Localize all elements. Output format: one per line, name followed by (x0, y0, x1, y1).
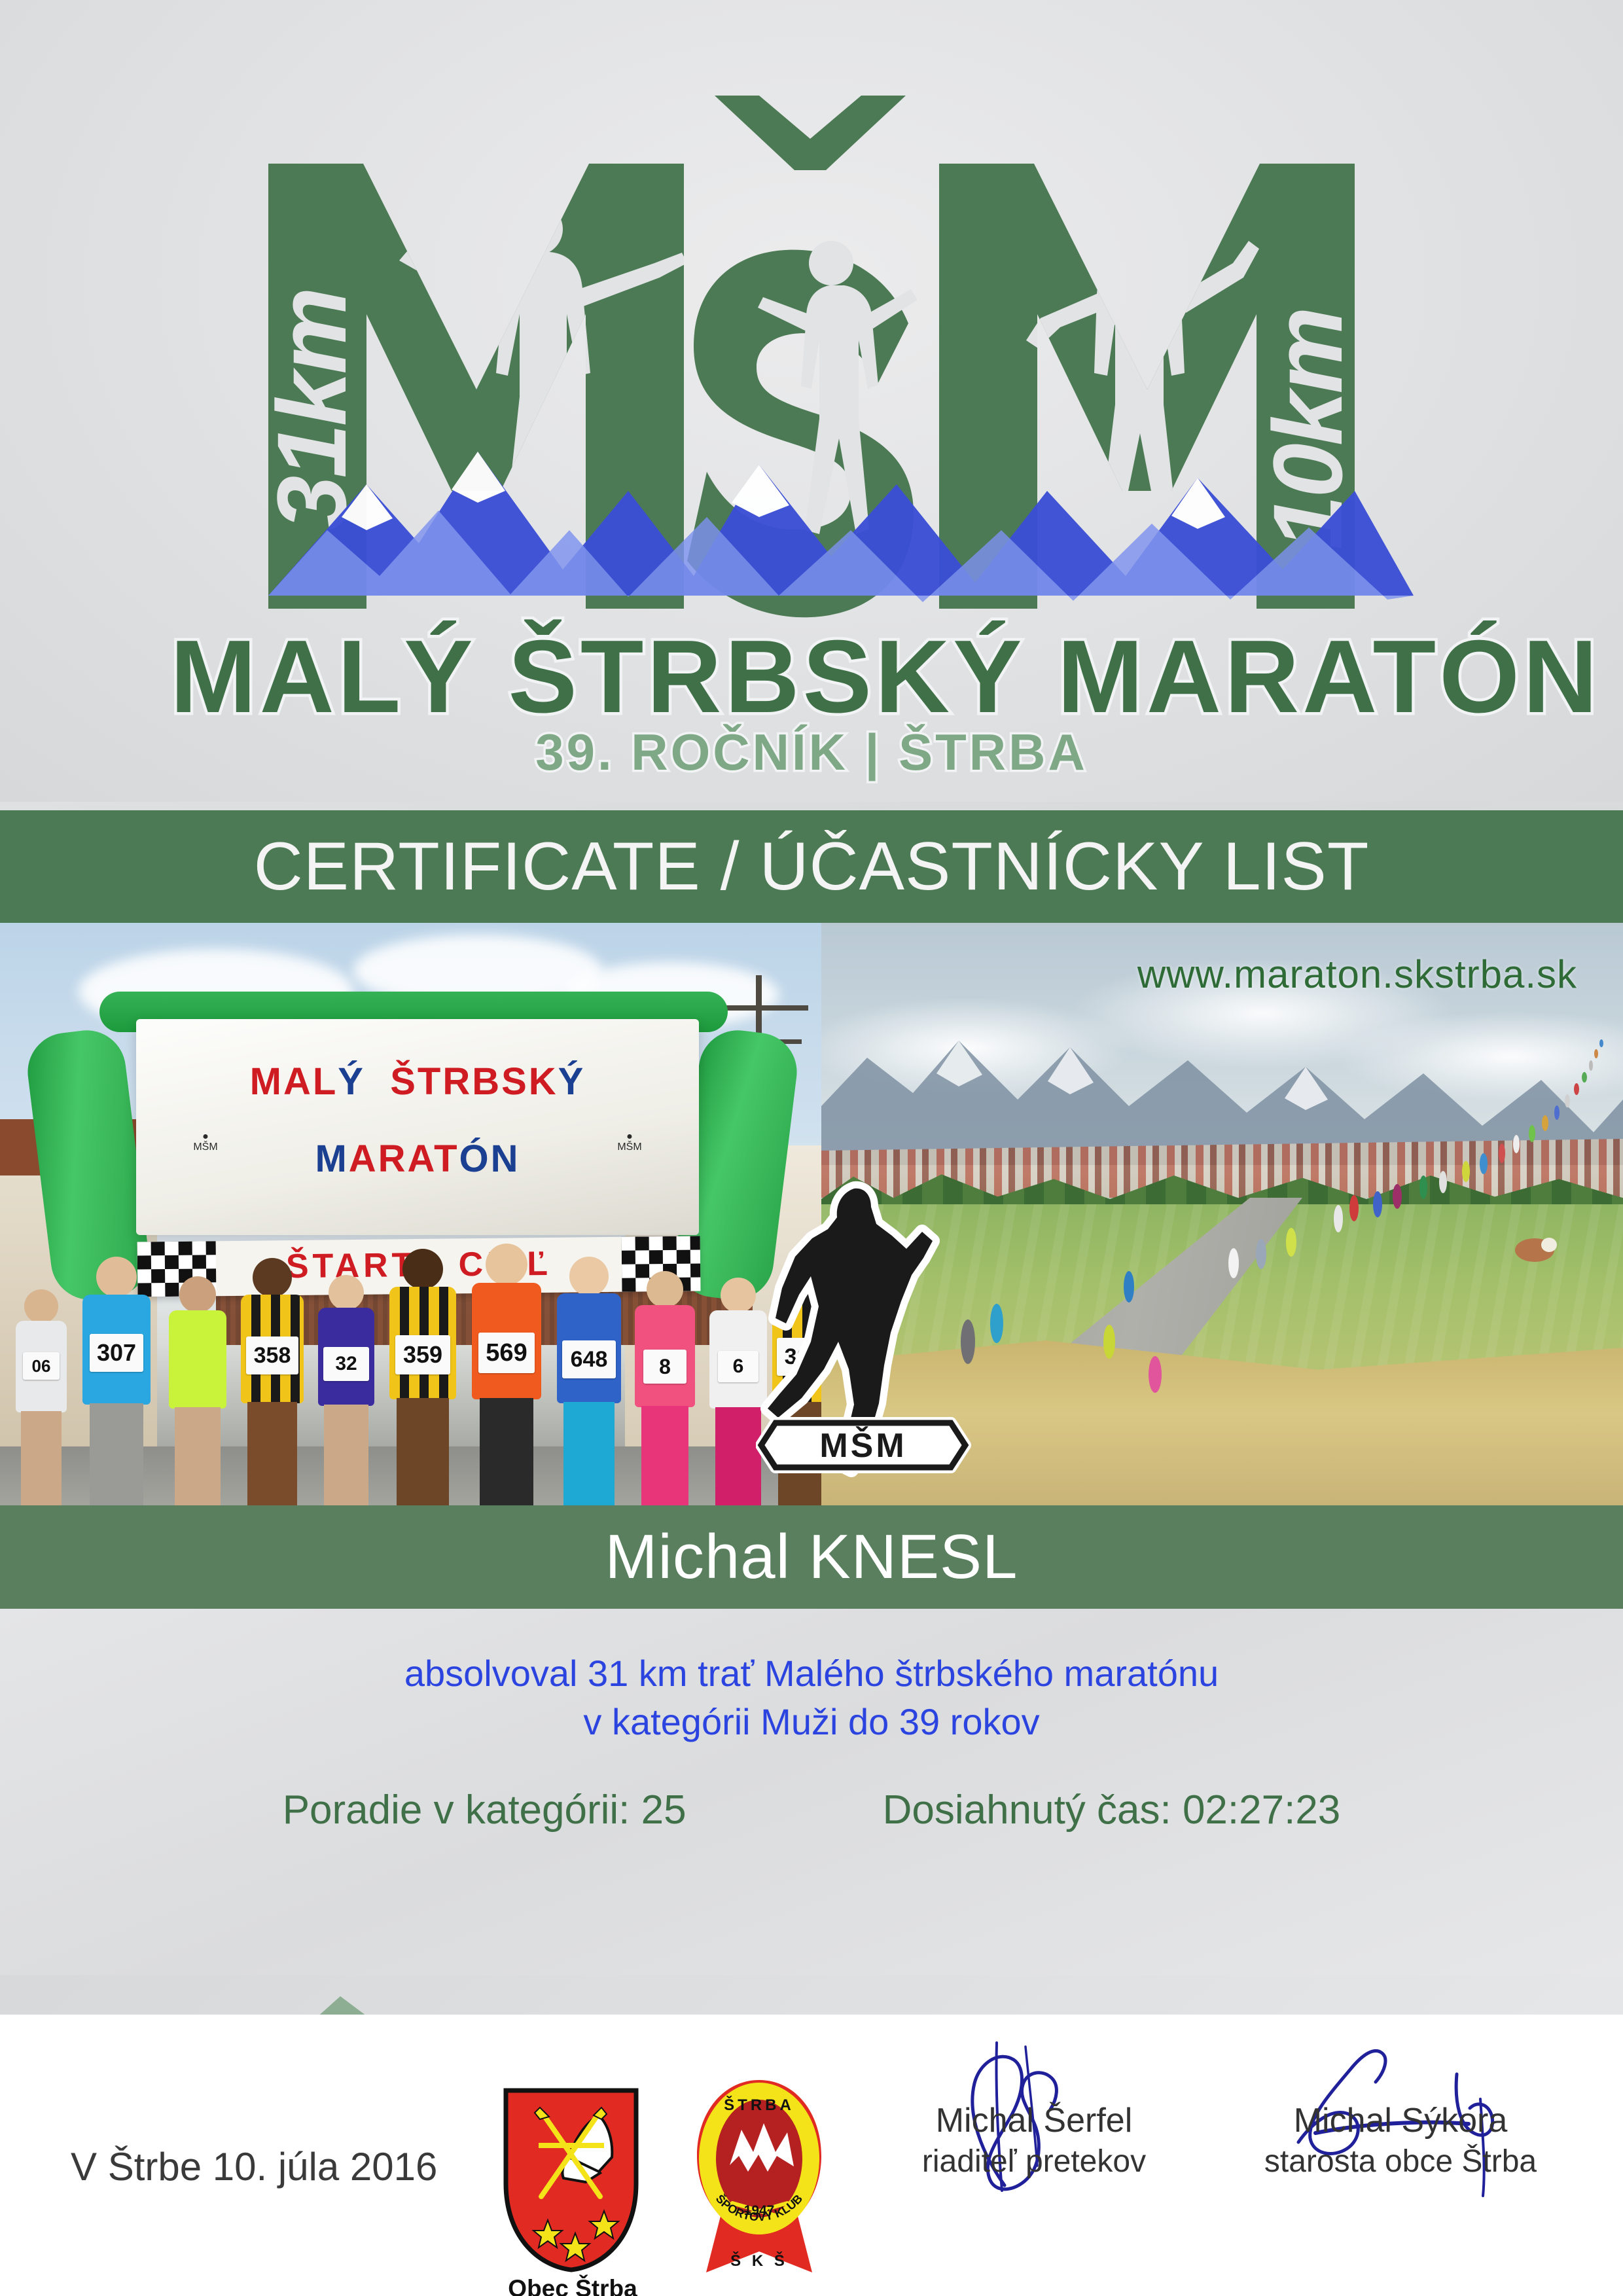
achievement-line-1: absolvoval 31 km trať Malého štrbského m… (0, 1649, 1623, 1698)
runner: 307 (77, 1257, 156, 1505)
website-url[interactable]: www.maraton.skstrba.sk (1137, 952, 1577, 997)
certificate-page: 31km (0, 0, 1623, 2296)
category-rank: Poradie v kategórii: 25 (283, 1787, 687, 1833)
participant-name-band: Michal KNESL (0, 1505, 1623, 1609)
event-subtitle: 39. ROČNÍK | ŠTRBA (170, 726, 1453, 778)
achievement-line-2: v kategórii Muži do 39 rokov (0, 1698, 1623, 1746)
arch-banner: MALÝ ŠTRBSKÝ MARATÓN ●MŠM ●MŠM (136, 1019, 699, 1235)
issue-date: V Štrbe 10. júla 2016 (71, 2144, 437, 2189)
signature-role: starosta obce Štrba (1217, 2142, 1584, 2181)
signature-block-director: Michal Šerfel riaditeľ pretekov (851, 2100, 1217, 2181)
badge-text: MŠM (819, 1426, 906, 1465)
msm-wordmark-svg: 31km (170, 33, 1453, 687)
arch-msm-mark-left: ●MŠM (191, 1132, 220, 1179)
signature-name: Michal Sýkora (1217, 2100, 1584, 2142)
runner: 359 (383, 1249, 462, 1505)
footer: V Štrbe 10. júla 2016 Obec (0, 2015, 1623, 2296)
runner: 32 (313, 1275, 380, 1505)
achievement-text: absolvoval 31 km trať Malého štrbského m… (0, 1649, 1623, 1746)
bib-number: 358 (246, 1336, 298, 1374)
photo-start-line: MALÝ ŠTRBSKÝ MARATÓN ●MŠM ●MŠM ŠTART - C… (0, 923, 821, 1505)
arch-banner-line1: MALÝ ŠTRBSKÝ (136, 1060, 699, 1103)
runner: 648 (551, 1257, 627, 1505)
msm-logo: 31km (170, 33, 1453, 785)
signature-name: Michal Šerfel (851, 2100, 1217, 2142)
header-logo-area: 31km (0, 0, 1623, 802)
bib-number: 6 (718, 1351, 758, 1382)
runner (164, 1276, 232, 1505)
runner: 358 (236, 1258, 309, 1505)
bib-number: 32 (323, 1347, 369, 1381)
runner: 06 (12, 1289, 71, 1505)
sks-bottom-text: Š K Š (730, 2251, 788, 2270)
arch-banner-line2: MARATÓN (136, 1137, 699, 1181)
signature-block-mayor: Michal Sýkora starosta obce Štrba (1217, 2100, 1584, 2181)
bib-number: 648 (562, 1340, 616, 1378)
bib-number: 8 (643, 1350, 687, 1384)
msm-runner-badge: MŠM (756, 1178, 972, 1486)
runner: 569 (466, 1244, 547, 1505)
result-row: Poradie v kategórii: 25 Dosiahnutý čas: … (0, 1787, 1623, 1833)
certificate-band: CERTIFICATE / ÚČASTNÍCKY LIST (0, 810, 1623, 923)
bib-number: 359 (395, 1335, 450, 1374)
event-title: MALÝ ŠTRBSKÝ MARATÓN (170, 625, 1453, 728)
sks-club-emblem: ŠTRBA 1947 Š K Š ŠPORTOVÝ KLUB (690, 2079, 828, 2275)
bib-number: 569 (478, 1333, 535, 1373)
finish-time: Dosiahnutý čas: 02:27:23 (883, 1787, 1341, 1833)
svg-text:31km: 31km (257, 289, 366, 530)
bib-number: 06 (23, 1352, 60, 1380)
runner-crowd: 06 307 358 (0, 1230, 821, 1505)
sks-top-text: ŠTRBA (724, 2096, 794, 2114)
arch-msm-mark-right: ●MŠM (615, 1132, 644, 1179)
bib-number: 307 (90, 1334, 143, 1372)
participant-name: Michal KNESL (605, 1521, 1018, 1593)
obec-strba-crest (501, 2085, 641, 2275)
certificate-heading: CERTIFICATE / ÚČASTNÍCKY LIST (254, 828, 1370, 906)
obec-strba-label: Obec Štrba (481, 2275, 664, 2296)
runner: 8 (630, 1271, 700, 1505)
signature-role: riaditeľ pretekov (851, 2142, 1217, 2181)
